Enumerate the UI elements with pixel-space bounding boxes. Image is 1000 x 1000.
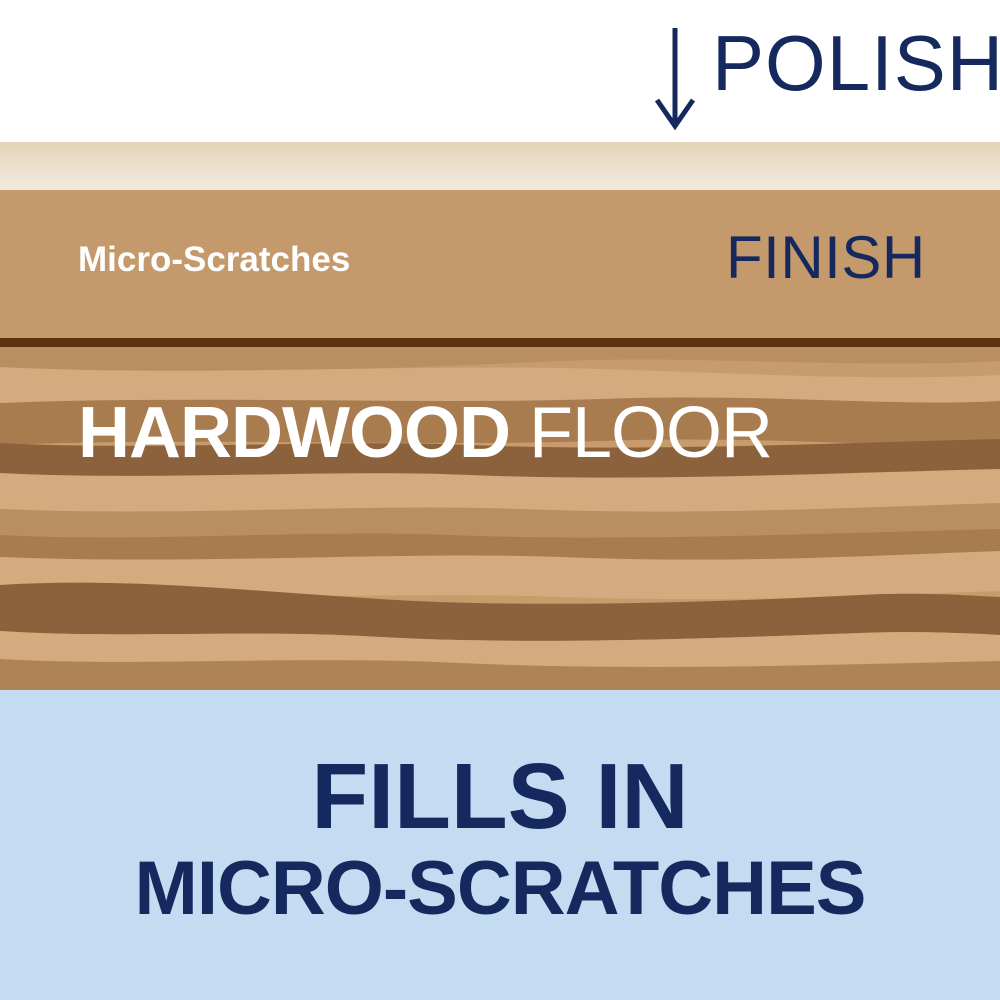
finish-wood-separator xyxy=(0,338,1000,347)
hardwood-title-bold: HARDWOOD xyxy=(78,393,510,473)
infographic-canvas: POLISH Micro-Scratches FINISH xyxy=(0,0,1000,1000)
down-arrow-icon xyxy=(650,26,700,130)
finish-label: FINISH xyxy=(726,226,926,290)
polish-coat-layer xyxy=(0,142,1000,192)
micro-scratches-label: Micro-Scratches xyxy=(78,240,350,280)
header-band: POLISH xyxy=(0,0,1000,142)
hardwood-floor-title: HARDWOOD FLOOR xyxy=(78,394,772,472)
callout-headline-primary: FILLS IN xyxy=(0,748,1000,844)
polish-label: POLISH xyxy=(712,22,1000,104)
hardwood-title-light: FLOOR xyxy=(510,393,772,473)
callout-headline-secondary: MICRO-SCRATCHES xyxy=(0,848,1000,930)
